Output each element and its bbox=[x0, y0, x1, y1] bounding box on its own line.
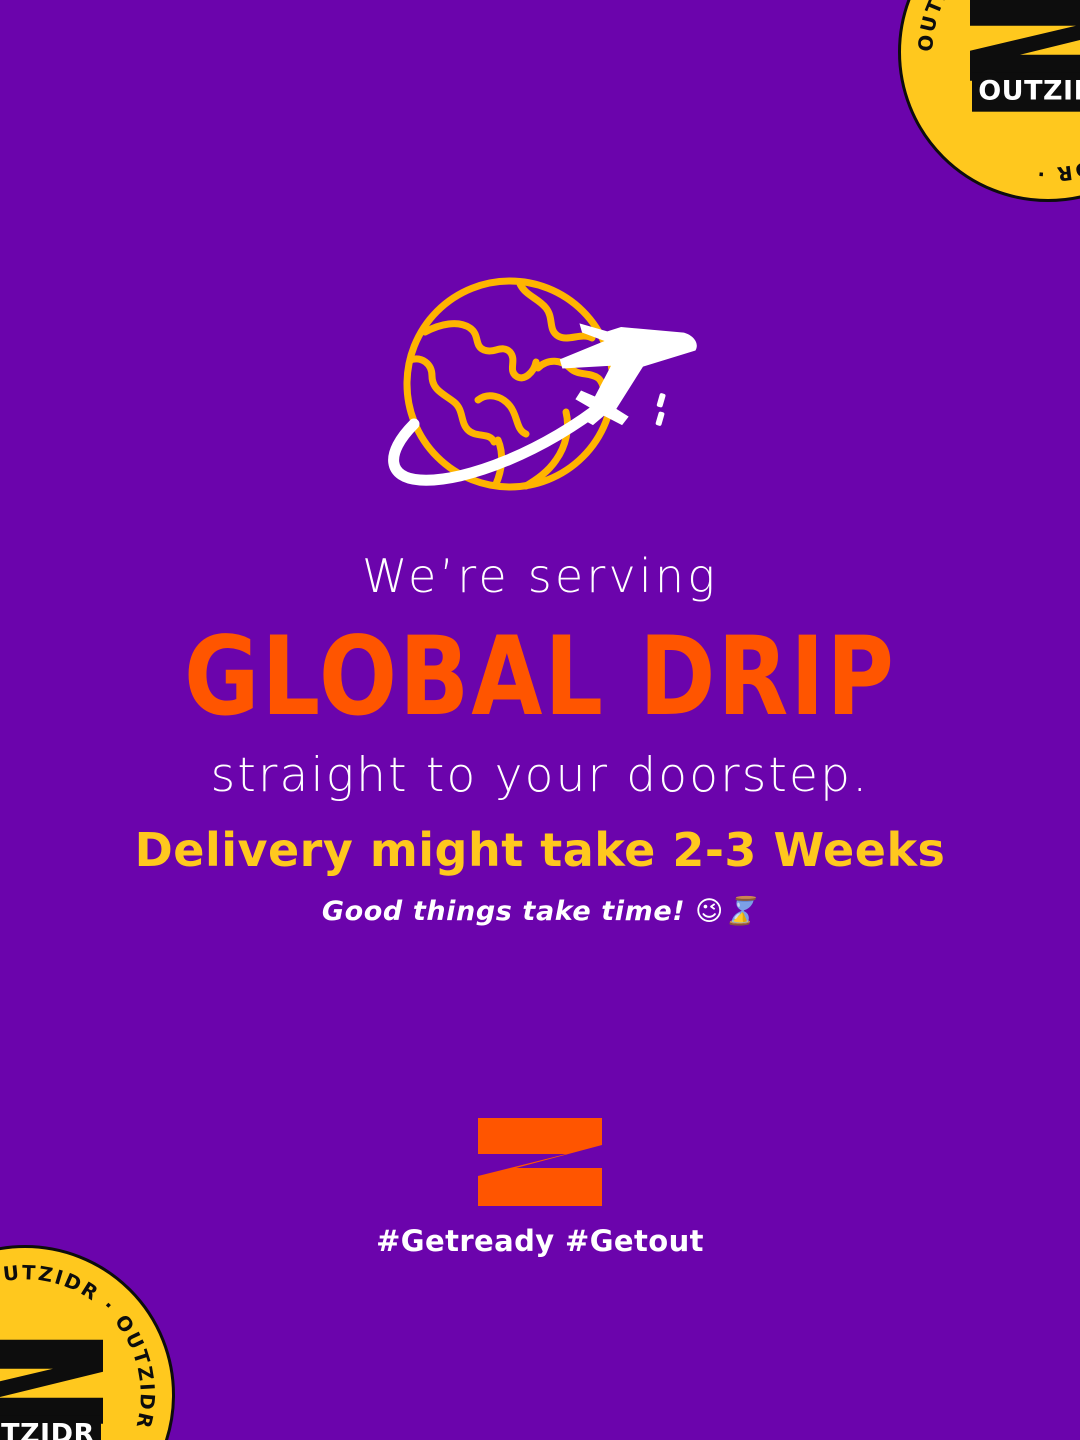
footer-brand: #Getready #Getout bbox=[0, 1118, 1080, 1258]
eyebrow-text: We’re serving bbox=[0, 548, 1080, 606]
globe-airplane-icon bbox=[370, 272, 710, 497]
hero-illustration bbox=[0, 272, 1080, 497]
headline-block: We’re serving GLOBAL DRIP straight to yo… bbox=[0, 548, 1080, 805]
outzidr-z-glyph bbox=[0, 1336, 109, 1428]
outzidr-badge-bottom-left: OUTZIDR · OUTZIDR · OUTZIDR · OUTZIDR · … bbox=[0, 1245, 175, 1440]
badge-center-mark-top-right: OUTZIDR bbox=[964, 0, 1080, 111]
promo-poster: OUTZIDR · OUTZIDR · OUTZIDR · OUTZIDR · … bbox=[0, 0, 1080, 1440]
delivery-notice: Delivery might take 2-3 Weeks Good thing… bbox=[0, 822, 1080, 929]
badge-wordmark: OUTZIDR bbox=[0, 1416, 101, 1440]
badge-wordmark: OUTZIDR bbox=[972, 73, 1080, 112]
delivery-subtext: Good things take time! 😉⌛ bbox=[0, 894, 1080, 929]
page-title: GLOBAL DRIP bbox=[0, 616, 1080, 738]
outzidr-badge-top-right: OUTZIDR · OUTZIDR · OUTZIDR · OUTZIDR · … bbox=[898, 0, 1080, 202]
badge-center-mark-bottom-left: OUTZIDR bbox=[0, 1336, 109, 1440]
delivery-headline: Delivery might take 2-3 Weeks bbox=[0, 822, 1080, 878]
subline-text: straight to your doorstep. bbox=[0, 747, 1080, 806]
outzidr-z-logo bbox=[478, 1118, 602, 1206]
